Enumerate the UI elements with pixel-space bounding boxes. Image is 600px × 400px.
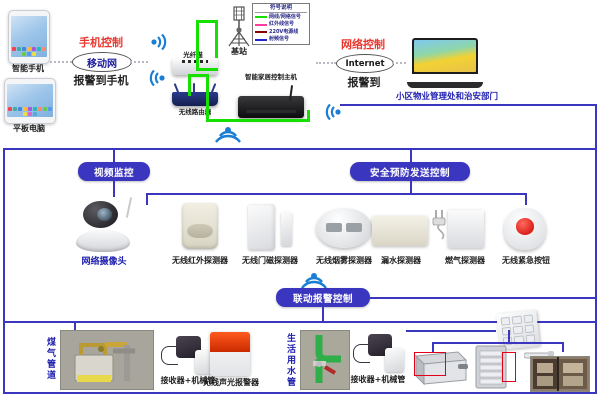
mobile-network-label: 移动网 [87,55,117,70]
modem-device [172,58,218,75]
legend-swatch-power [255,31,267,33]
tablet-label: 平板电脑 [2,124,56,134]
keypad-key-3[interactable] [523,314,533,323]
legend-box: 符号说明 网线/网络信号 红外线信号 220V电源线 射频信号 [252,3,310,45]
sound-light-siren-label: 无线声光报警器 [200,378,262,388]
gas-pipeline-label: 煤气管道 [46,338,57,382]
ip-camera-device [72,200,134,252]
branch-security-v [410,148,412,162]
legend-label-3: 射频信号 [269,36,289,43]
water-valve-actuator-device [352,334,404,372]
legend-label-0: 网线/网络信号 [269,14,301,21]
camera-lens [97,208,112,220]
internet-network-label: Internet [345,59,384,69]
router-antenna-center [193,83,195,96]
legend-label-1: 红外线信号 [269,21,294,28]
bus-label-security[interactable]: 安全预防发送控制 [350,162,470,181]
blind-highlight-box [502,352,516,382]
keypad-branch-drop [508,330,510,342]
wifi-downlink-icon [142,70,166,86]
laptop-screen [414,40,476,72]
wifi-uplink-icon [150,34,174,50]
internet-dash-left [316,62,336,64]
cable-host-up [307,110,310,120]
camera-base [76,230,131,252]
internet-dash-right [392,62,406,64]
mobile-alarm-label: 报警到手机 [66,72,136,88]
wireless-smoke-detector-label: 无线烟雾探测器 [306,256,382,266]
water-pipeline-photo [300,330,350,390]
keypad-key-4[interactable] [502,327,512,336]
keypad-feed-line [406,330,496,332]
tablet-screen [7,84,53,117]
panic-red-button[interactable] [516,218,534,235]
host-antenna [289,85,293,101]
legend-row-3: 射频信号 [255,36,307,43]
base-station-tower [222,6,256,48]
internet-destination-label: 小区物业管理处和治安部门 [380,90,514,102]
cable-modem-in [196,68,218,71]
camera-antenna [126,197,132,218]
internet-network-ellipse: Internet [336,54,394,73]
wifi-host-broadcast-icon [214,126,242,146]
bus-label-video[interactable]: 视频监控 [78,162,150,181]
bus-label-linkage[interactable]: 联动报警控制 [276,288,370,307]
legend-swatch-network [255,16,267,18]
keypad-key-2[interactable] [512,316,522,325]
linkage-return-line [370,297,596,299]
gas-valve-actuator-device [160,336,214,374]
wireless-pir-label: 无线红外探测器 [162,256,238,266]
legend-title: 符号说明 [255,5,307,13]
gas-detector-power-cord [432,208,452,242]
laptop-device [412,38,478,88]
left-border-line [3,148,5,394]
water-leak-detector-label: 漏水探测器 [372,256,430,266]
wireless-pir-device [182,203,218,249]
tablet-device [4,78,56,124]
smoke-vent-left [326,223,342,232]
door-contact-magnet [281,212,292,246]
smart-home-host-device [238,96,304,118]
laptop-lid [412,38,478,74]
cable-modem-out [188,74,208,77]
legend-row-2: 220V电源线 [255,29,307,36]
linkage-pill-drop [322,307,324,321]
security-row-bus [146,193,526,195]
water-valve-actuator-label: 接收器+机械管 [346,375,410,385]
smoke-vent-right [346,223,362,232]
keypad-key-6[interactable] [524,324,534,333]
wireless-panic-button-label: 无线紧急按钮 [492,256,560,266]
gas-pipeline-photo [60,330,154,390]
cable-tower-h [196,20,218,23]
legend-swatch-infrared [255,24,267,26]
door-contact-main [248,204,275,250]
security-row-left-drop [146,193,148,205]
siren-strobe-lens [210,332,250,352]
water-valve-remote [385,348,404,372]
main-bus-line [3,148,597,150]
sound-light-siren-device [210,332,250,376]
router-antenna-right [210,83,217,96]
base-station-label: 基站 [220,47,258,57]
legend-label-2: 220V电源线 [269,29,298,36]
smartphone-label: 智能手机 [2,64,54,74]
curtain-highlight-box [414,352,446,376]
wireless-door-contact-label: 无线门磁探测器 [232,256,308,266]
ip-camera-label: 网络摄像头 [66,254,142,267]
wireless-router-label: 无线路由器 [166,107,224,117]
branch-video-v [113,148,115,162]
legend-row-0: 网线/网络信号 [255,14,307,21]
internet-return-line [340,104,596,106]
security-row-right-drop [525,193,527,205]
cable-modem-router [188,74,191,96]
internet-control-label: 网络控制 [332,36,394,52]
smartphone-device [8,10,50,64]
router-antenna-left [174,83,181,96]
pir-lens-grill [187,224,213,238]
modem-leds [182,60,208,63]
tablet-app-icons [8,107,52,116]
diagram-canvas: 符号说明 网线/网络信号 红外线信号 220V电源线 射频信号 [0,0,600,400]
security-pill-drop [410,181,412,193]
window-opener-photo [530,356,590,392]
keypad-key-5[interactable] [513,326,523,335]
smart-home-host-label: 智能家居控制主机 [228,72,314,82]
host-slot [246,110,296,113]
keypad-key-1[interactable] [501,317,511,326]
right-border-line [595,104,597,394]
cable-tower-modem-v [215,20,218,58]
legend-row-1: 红外线信号 [255,21,307,28]
wireless-door-contact-device [248,204,292,250]
gas-detector-label: 燃气探测器 [432,256,498,266]
water-pipeline-label: 生活用水管 [286,334,297,389]
cable-to-host [206,119,310,122]
smartphone-screen [11,16,47,57]
water-leak-detector-device [372,216,428,246]
video-pill-drop [113,181,115,197]
smartphone-app-icons [12,47,46,56]
window-branch-drop [562,342,564,352]
bottom-border-line [3,392,597,394]
mobile-control-label: 手机控制 [70,34,132,50]
internet-alarm-label: 报警到 [336,74,392,90]
laptop-base [407,82,484,88]
mobile-network-ellipse: 移动网 [72,52,132,72]
legend-swatch-rf [255,39,267,41]
wifi-internet-icon [318,104,342,120]
mobile-dash-left [50,61,72,63]
mobile-dash-right [130,61,148,63]
gas-detector-device [448,210,484,248]
wireless-panic-button-device[interactable] [504,208,546,250]
cable-router-host-v [206,74,209,122]
wireless-router-device [172,92,218,106]
wireless-smoke-detector-device [316,208,372,248]
cable-left-drop [196,20,199,68]
